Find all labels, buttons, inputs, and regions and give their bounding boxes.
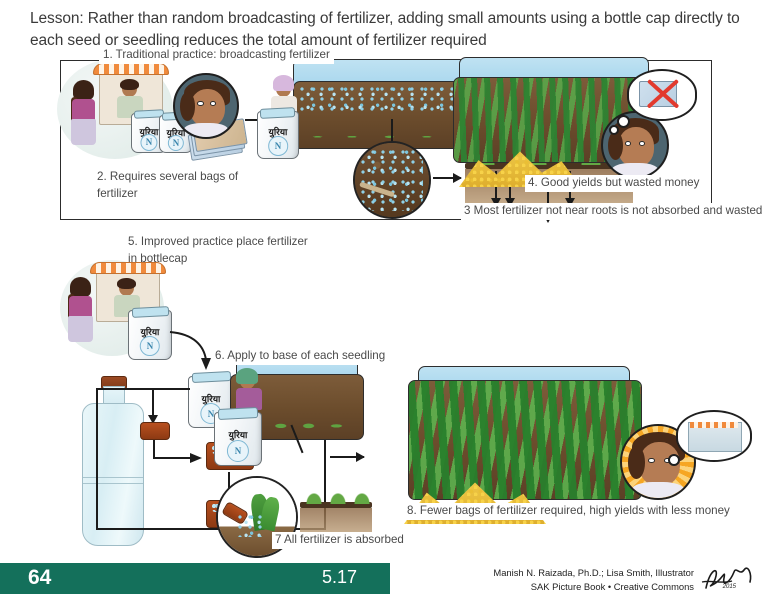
caption-step-1: 1. Traditional practice: broadcasting fe…: [99, 47, 334, 64]
lesson-page: Lesson: Rather than random broadcasting …: [0, 0, 776, 600]
bottle-body: [82, 403, 144, 546]
diagram-left-line: [96, 388, 98, 530]
farmer-applying-figure: [232, 368, 266, 412]
caption-step-5: 5. Improved practice place fertilizer in…: [128, 234, 308, 268]
roots-absorbed-diagram: [300, 490, 372, 534]
page-number: 64: [28, 566, 51, 590]
thought-bubble-no-money: [627, 69, 697, 121]
field-soil-broadcast: [293, 81, 467, 149]
customer-figure: [69, 83, 99, 149]
farmer-portrait-sad: [601, 111, 669, 179]
page-title: Lesson: Rather than random broadcasting …: [30, 8, 750, 52]
arrow-shop-to-diagram: [168, 328, 216, 374]
plastic-bottle: [82, 376, 144, 546]
credits-block: Manish N. Raizada, Ph.D.; Lisa Smith, Il…: [493, 566, 694, 594]
urea-bag-field: युरिया N: [257, 111, 299, 159]
caption-step-3: 3 Most fertilizer not near roots is not …: [461, 203, 765, 220]
arrow-bottle-to-cap: [152, 388, 154, 416]
caption-step-6: 6. Apply to base of each seedling: [212, 348, 388, 365]
urea-bag-apply: युरिया N: [214, 412, 262, 466]
arrow-to-application: [330, 456, 364, 458]
caption-step-2: 2. Requires several bags of fertilizer: [97, 169, 257, 203]
caption-step-7: 7 All fertilizer is absorbed: [272, 532, 407, 549]
section-number: 5.17: [322, 567, 357, 588]
thought-bubble-dot: [609, 125, 619, 135]
credit-line-authors: Manish N. Raizada, Ph.D.; Lisa Smith, Il…: [493, 566, 694, 580]
signature-year: 2015: [723, 584, 736, 590]
arrow-cap-to-filled-cap: [152, 438, 210, 472]
broadcast-granules: [300, 86, 460, 112]
thought-bubble-shop: [676, 410, 752, 462]
thought-bubble-dot: [617, 115, 630, 128]
diagram-connector: [96, 388, 190, 390]
caption-step-8: 8. Fewer bags of fertilizer required, hi…: [404, 503, 733, 520]
customer-figure-2: [66, 280, 96, 346]
credit-line-license: SAK Picture Book • Creative Commons: [493, 580, 694, 594]
traditional-practice-art: युरिया N युरिया N: [61, 61, 711, 219]
improved-practice-section: 5. Improved practice place fertilizer in…: [0, 228, 776, 558]
arrow-to-root-crosssection: [433, 177, 461, 179]
thought-bubble-dot: [668, 454, 680, 466]
seedling-row-broadcast: [302, 116, 458, 142]
caption-step-4: 4. Good yields but wasted money: [525, 175, 702, 192]
urea-nitrogen-badge: N: [268, 136, 288, 156]
soil-closeup-broadcast: [353, 141, 431, 219]
traditional-practice-panel: युरिया N युरिया N: [60, 60, 712, 220]
urea-bag-shop-3: युरिया N: [128, 310, 172, 360]
field-soil-final: [408, 380, 642, 500]
shop-awning: [93, 63, 169, 75]
farmer-portrait-worried: [173, 73, 239, 139]
